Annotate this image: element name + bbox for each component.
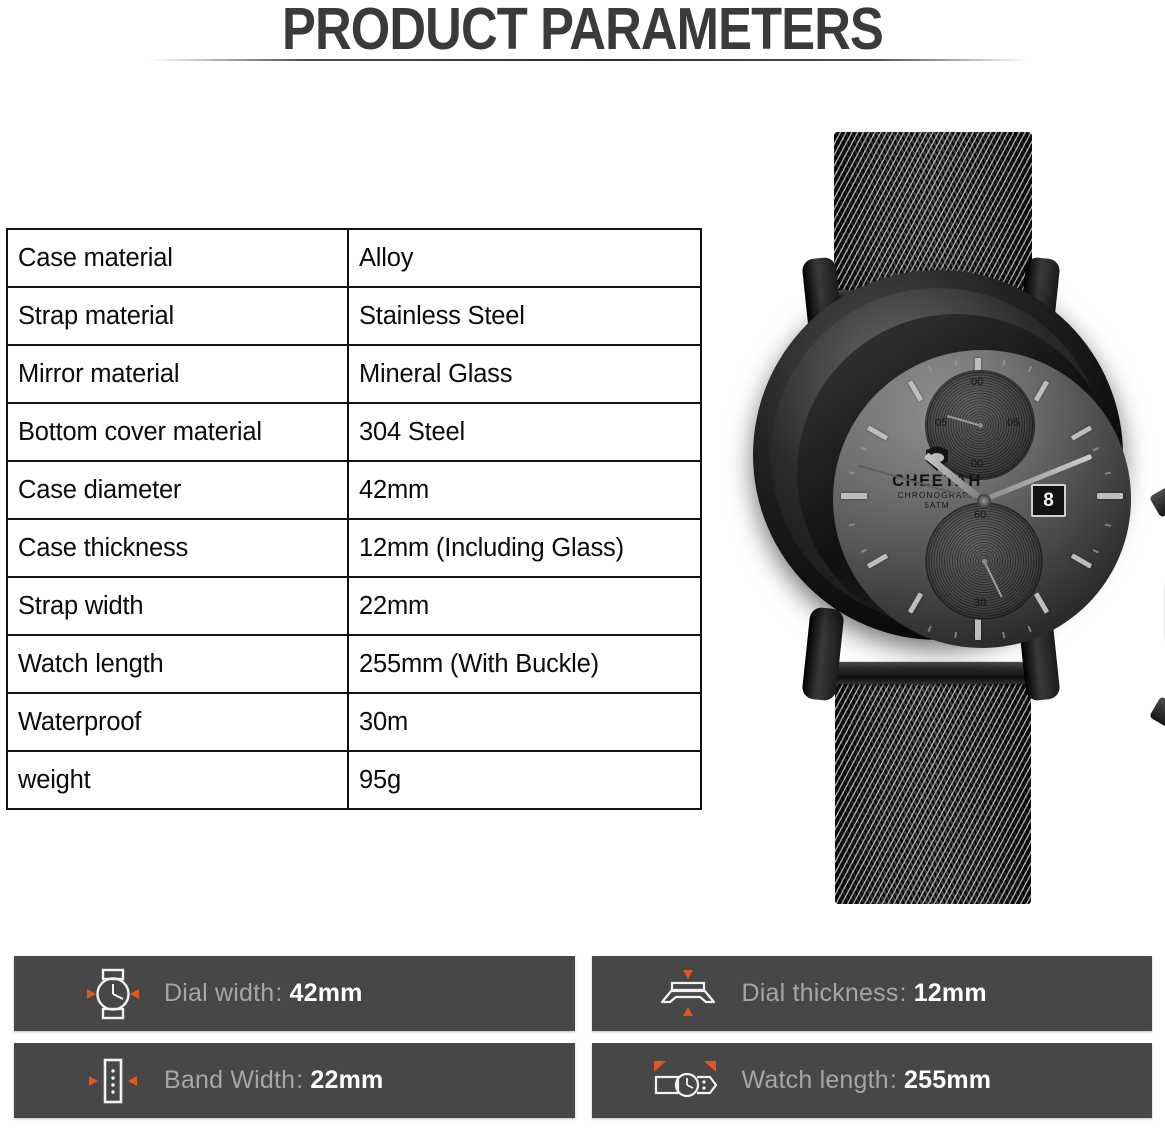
info-bar-label: Band Width	[164, 1066, 295, 1094]
bezel: 00 05 05 00 60 30	[797, 314, 1115, 632]
info-bar-dial-thickness: Dial thickness:12mm	[592, 956, 1153, 1031]
info-bar-text: Dial thickness:12mm	[742, 979, 987, 1008]
spec-key: Case thickness	[7, 519, 348, 577]
info-bar-watch-length: Watch length:255mm	[592, 1043, 1153, 1118]
table-row: Strap material Stainless Steel	[7, 287, 701, 345]
title-divider	[150, 59, 1030, 61]
spec-value: Mineral Glass	[348, 345, 701, 403]
subdial-top-label-1: 05	[935, 417, 947, 429]
info-bar-band-width: Band Width:22mm	[14, 1043, 575, 1118]
spec-value: Stainless Steel	[348, 287, 701, 345]
table-row: Case diameter 42mm	[7, 461, 701, 519]
spec-value: 304 Steel	[348, 403, 701, 461]
specifications-table-body: Case material Alloy Strap material Stain…	[7, 229, 701, 809]
spec-value: 42mm	[348, 461, 701, 519]
spec-key: Strap width	[7, 577, 348, 635]
info-bar-label: Dial width	[164, 979, 274, 1007]
chronograph-pusher-top	[1149, 482, 1165, 518]
spec-key: Waterproof	[7, 693, 348, 751]
case-inner-ring: 00 05 05 00 60 30	[771, 288, 1105, 622]
spec-value: 95g	[348, 751, 701, 809]
info-bar-text: Watch length:255mm	[742, 1066, 992, 1095]
date-window: 8	[1031, 484, 1066, 517]
info-bar-text: Band Width:22mm	[164, 1066, 383, 1095]
hour-index-9	[841, 493, 867, 499]
info-bar-row-2: Band Width:22mm Watch length:25	[14, 1043, 1152, 1118]
table-row: Case material Alloy	[7, 229, 701, 287]
spec-value: Alloy	[348, 229, 701, 287]
spec-value: 22mm	[348, 577, 701, 635]
subdial-bottom: 60 30	[925, 502, 1043, 620]
specifications-table: Case material Alloy Strap material Stain…	[6, 228, 702, 810]
watch-front-width-icon	[76, 966, 150, 1022]
subdial-top-pin	[978, 423, 983, 428]
spec-key: weight	[7, 751, 348, 809]
table-row: Case thickness 12mm (Including Glass)	[7, 519, 701, 577]
spec-key: Mirror material	[7, 345, 348, 403]
page-header: PRODUCT PARAMETERS	[0, 0, 1165, 68]
icon-slot	[14, 966, 164, 1022]
info-bar-colon: :	[296, 1066, 303, 1094]
mesh-band-bottom	[835, 676, 1031, 904]
table-row: Waterproof 30m	[7, 693, 701, 751]
table-row: weight 95g	[7, 751, 701, 809]
spec-value: 255mm (With Buckle)	[348, 635, 701, 693]
hour-index-3	[1097, 493, 1123, 499]
date-value: 8	[1043, 490, 1054, 512]
spec-key: Case material	[7, 229, 348, 287]
icon-slot	[14, 1053, 164, 1109]
subdial-bottom-label-1: 30	[974, 597, 986, 609]
band-end-piece-bottom	[825, 662, 1041, 684]
spec-key: Watch length	[7, 635, 348, 693]
page-title: PRODUCT PARAMETERS	[82, 0, 1084, 60]
info-bar-value: 22mm	[310, 1066, 383, 1094]
watch-length-icon	[642, 1053, 728, 1109]
product-photo-watch: 00 05 05 00 60 30	[700, 110, 1165, 920]
info-bar-colon: :	[890, 1066, 897, 1094]
info-bar-text: Dial width:42mm	[164, 979, 363, 1008]
watch-dial: 00 05 05 00 60 30	[833, 350, 1131, 648]
icon-slot	[592, 1053, 742, 1109]
info-bar-label: Watch length	[742, 1066, 889, 1094]
subdial-bottom-pin	[982, 559, 987, 564]
info-bar-row-1: Dial width:42mm Dial thickness:12mm	[14, 956, 1152, 1031]
table-row: Strap width 22mm	[7, 577, 701, 635]
info-bar-colon: :	[900, 979, 907, 1007]
table-row: Bottom cover material 304 Steel	[7, 403, 701, 461]
dimension-info-bars: Dial width:42mm Dial thickness:12mm	[14, 956, 1152, 1130]
subdial-top-label-0: 00	[971, 376, 983, 388]
subdial-top-hand	[947, 415, 980, 427]
info-bar-value: 255mm	[904, 1066, 991, 1094]
spec-key: Strap material	[7, 287, 348, 345]
table-row: Mirror material Mineral Glass	[7, 345, 701, 403]
watch-side-profile-icon	[648, 966, 728, 1022]
spec-key: Bottom cover material	[7, 403, 348, 461]
info-bar-colon: :	[275, 979, 282, 1007]
spec-key: Case diameter	[7, 461, 348, 519]
subdial-top-label-2: 05	[1007, 417, 1019, 429]
watch-case: 00 05 05 00 60 30	[753, 270, 1123, 640]
water-resistance-label: 5ATM	[889, 501, 985, 511]
chronograph-pusher-bottom	[1149, 696, 1165, 732]
table-row: Watch length 255mm (With Buckle)	[7, 635, 701, 693]
hands-center-pin	[977, 494, 991, 508]
icon-slot	[592, 966, 742, 1022]
info-bar-value: 42mm	[290, 979, 363, 1007]
info-bar-label: Dial thickness	[742, 979, 899, 1007]
spec-value: 12mm (Including Glass)	[348, 519, 701, 577]
subdial-bottom-hand	[983, 561, 1003, 598]
info-bar-dial-width: Dial width:42mm	[14, 956, 575, 1031]
spec-value: 30m	[348, 693, 701, 751]
watch-band-width-icon	[76, 1053, 150, 1109]
info-bar-value: 12mm	[914, 979, 987, 1007]
